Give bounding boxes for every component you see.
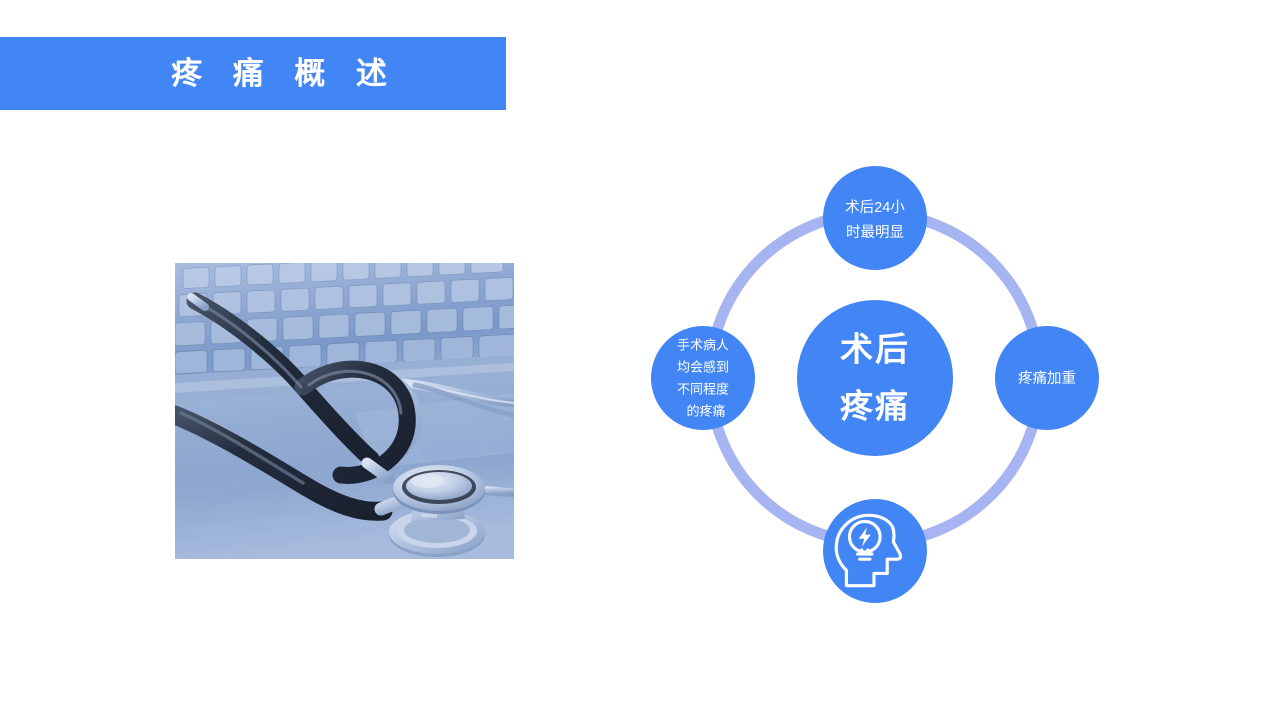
diagram-node-top[interactable]: 术后24小 时最明显 — [823, 166, 927, 270]
node-top-label-line1: 术后24小 — [845, 199, 905, 216]
postoperative-pain-diagram: 术后24小 时最明显 疼痛加重 — [672, 138, 1152, 618]
diagram-node-bottom[interactable] — [823, 499, 927, 603]
center-hub-label-line1: 术后 — [840, 331, 910, 368]
page-title: 疼 痛 概 述 — [160, 58, 398, 89]
diagram-node-left[interactable]: 手术病人 均会感到 不同程度 的疼痛 — [651, 326, 755, 430]
node-left-label-line3: 不同程度 — [677, 381, 729, 396]
center-hub-label-line2: 疼痛 — [840, 388, 910, 425]
diagram-center-hub[interactable]: 术后 疼痛 — [797, 300, 953, 456]
node-top-circle[interactable] — [823, 166, 927, 270]
node-left-label-line4: 的疼痛 — [686, 403, 725, 418]
center-hub-circle[interactable] — [797, 300, 953, 456]
node-right-label-line1: 疼痛加重 — [1018, 370, 1076, 387]
node-left-label-line1: 手术病人 — [677, 337, 729, 352]
diagram-node-right[interactable]: 疼痛加重 — [995, 326, 1099, 430]
node-left-label-line2: 均会感到 — [677, 359, 729, 374]
node-top-label-line2: 时最明显 — [846, 224, 904, 241]
slide-title-banner: 疼 痛 概 述 — [0, 37, 506, 110]
stethoscope-photo — [175, 263, 514, 559]
